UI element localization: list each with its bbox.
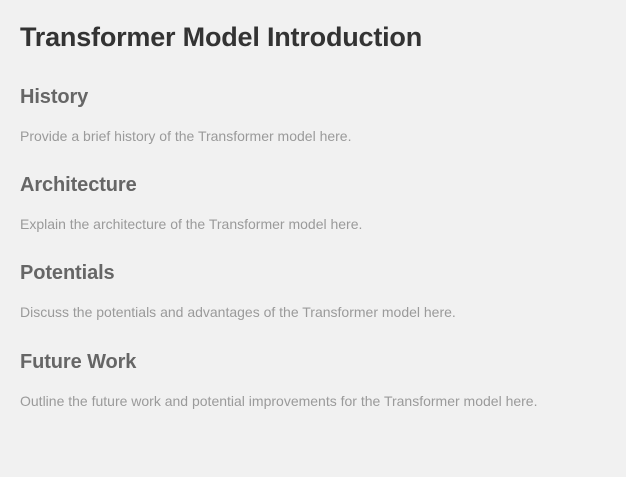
section-future-work: Future Work Outline the future work and … [20,322,606,410]
section-heading-history: History [20,57,606,109]
page-title: Transformer Model Introduction [20,22,606,53]
section-body-future-work: Outline the future work and potential im… [20,374,606,410]
section-potentials: Potentials Discuss the potentials and ad… [20,233,606,321]
section-body-history: Provide a brief history of the Transform… [20,109,606,145]
section-heading-potentials: Potentials [20,233,606,285]
section-history: History Provide a brief history of the T… [20,57,606,145]
section-heading-architecture: Architecture [20,145,606,197]
section-body-architecture: Explain the architecture of the Transfor… [20,197,606,233]
section-architecture: Architecture Explain the architecture of… [20,145,606,233]
section-body-potentials: Discuss the potentials and advantages of… [20,285,606,321]
document-page: Transformer Model Introduction History P… [0,0,626,477]
section-heading-future-work: Future Work [20,322,606,374]
